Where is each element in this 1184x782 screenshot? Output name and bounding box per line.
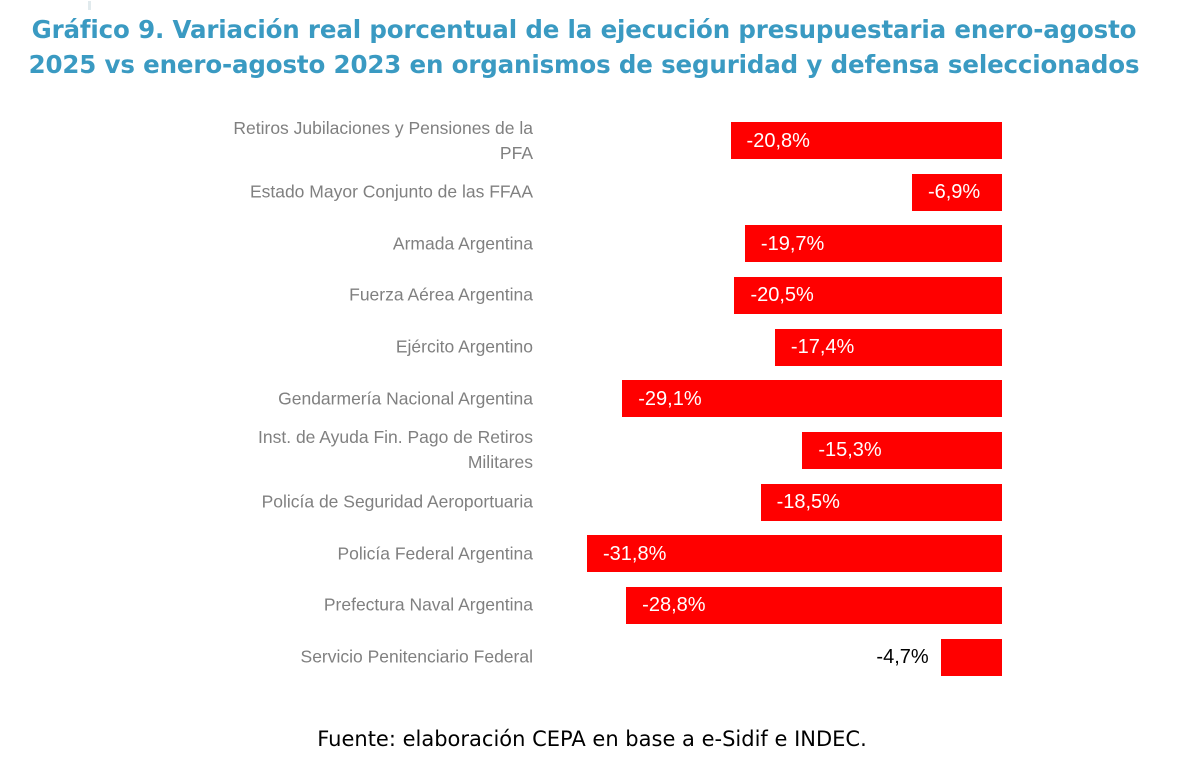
- bar-value-label-outside: -4,7%: [791, 646, 929, 668]
- bar-track: -20,5%: [0, 277, 1184, 314]
- bar[interactable]: [941, 639, 1002, 676]
- bar-value-label-inside: -17,4%: [791, 336, 854, 358]
- bar-value-label-inside: -20,8%: [747, 130, 810, 152]
- bar-value-label-inside: -18,5%: [777, 491, 840, 513]
- bar-row: Servicio Penitenciario Federal-4,7%: [0, 639, 1184, 676]
- bar-value-label-inside: -20,5%: [750, 284, 813, 306]
- bar-track: -20,8%: [0, 122, 1184, 159]
- bar-value-label-inside: -31,8%: [603, 543, 666, 565]
- bar-track: -29,1%: [0, 380, 1184, 417]
- bar-row: Policía de Seguridad Aeroportuaria-18,5%: [0, 484, 1184, 521]
- bar-track: -19,7%: [0, 225, 1184, 262]
- chart-title-line-2: 2025 vs enero-agosto 2023 en organismos …: [0, 47, 1168, 82]
- top-speck-artifact: [88, 1, 91, 10]
- bar-row: Retiros Jubilaciones y Pensiones de la P…: [0, 122, 1184, 159]
- chart-title: Gráfico 9. Variación real porcentual de …: [0, 12, 1168, 82]
- bar-row: Prefectura Naval Argentina-28,8%: [0, 587, 1184, 624]
- bar-track: -18,5%: [0, 484, 1184, 521]
- bar-row: Inst. de Ayuda Fin. Pago de Retiros Mili…: [0, 432, 1184, 469]
- source-note: Fuente: elaboración CEPA en base a e-Sid…: [0, 725, 1184, 753]
- bar-row: Estado Mayor Conjunto de las FFAA-6,9%: [0, 174, 1184, 211]
- bar-track: -15,3%: [0, 432, 1184, 469]
- bar-track: -4,7%: [0, 639, 1184, 676]
- bar-row: Ejército Argentino-17,4%: [0, 329, 1184, 366]
- bar-row: Fuerza Aérea Argentina-20,5%: [0, 277, 1184, 314]
- bar-track: -6,9%: [0, 174, 1184, 211]
- bar-row: Gendarmería Nacional Argentina-29,1%: [0, 380, 1184, 417]
- bar-value-label-inside: -6,9%: [928, 181, 980, 203]
- bar-value-label-inside: -29,1%: [638, 388, 701, 410]
- chart-figure: Gráfico 9. Variación real porcentual de …: [0, 0, 1184, 782]
- bar-row: Policía Federal Argentina-31,8%: [0, 535, 1184, 572]
- chart-title-line-1: Gráfico 9. Variación real porcentual de …: [0, 12, 1168, 47]
- bar-track: -28,8%: [0, 587, 1184, 624]
- bar-value-label-inside: -19,7%: [761, 233, 824, 255]
- bar-value-label-inside: -28,8%: [642, 594, 705, 616]
- bar-track: -31,8%: [0, 535, 1184, 572]
- bar-value-label-inside: -15,3%: [818, 439, 881, 461]
- bar-track: -17,4%: [0, 329, 1184, 366]
- bar-row: Armada Argentina-19,7%: [0, 225, 1184, 262]
- plot-area: Retiros Jubilaciones y Pensiones de la P…: [0, 110, 1184, 702]
